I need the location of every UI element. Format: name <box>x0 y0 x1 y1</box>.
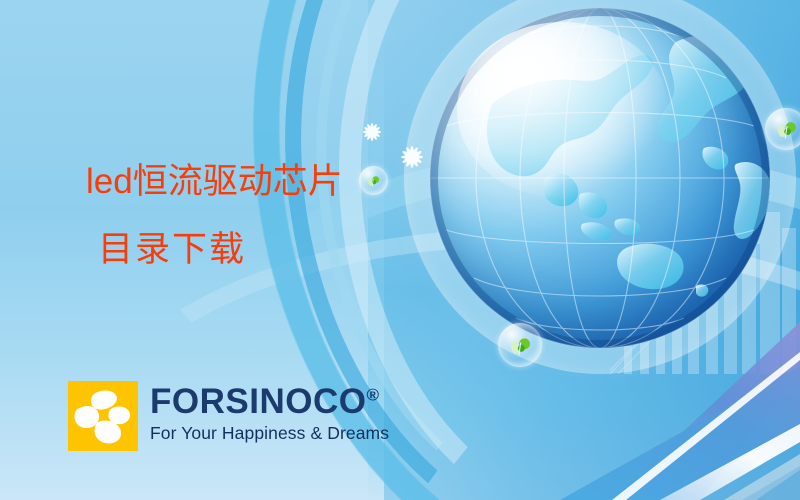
globe-sphere <box>430 8 770 348</box>
logo-wordmark: FORSINOCO® <box>150 384 389 419</box>
headline-line-2: 目录下载 <box>98 233 343 268</box>
promo-banner: led恒流驱动芯片 目录下载 FORSINOCO® For Your Happi… <box>0 0 800 500</box>
logo-text-block: FORSINOCO® For Your Happiness & Dreams <box>150 381 389 443</box>
bubble-sprout-center <box>498 323 542 367</box>
green-sprout-icon <box>364 172 383 189</box>
green-sprout-icon <box>506 333 534 359</box>
headline: led恒流驱动芯片 目录下载 <box>86 164 343 268</box>
flower-asterisk-1-icon <box>360 120 384 144</box>
logo-wordmark-text: FORSINOCO <box>150 382 366 421</box>
headline-line-1-latin: led <box>86 162 133 201</box>
logo-tagline: For Your Happiness & Dreams <box>150 425 389 443</box>
registered-trademark-icon: ® <box>366 385 379 404</box>
green-sprout-icon <box>773 117 800 141</box>
earth-globe <box>430 8 770 348</box>
company-logo[interactable]: FORSINOCO® For Your Happiness & Dreams <box>68 381 389 451</box>
bubble-sprout-right <box>765 108 800 150</box>
forsinoco-pinwheel-mark-icon <box>68 381 138 451</box>
headline-line-1-cjk: 恒流驱动芯片 <box>133 162 343 202</box>
headline-line-1: led恒流驱动芯片 <box>86 164 343 200</box>
flower-asterisk-2-icon <box>397 142 427 172</box>
bubble-sprout-left <box>359 166 388 195</box>
globe-continents-and-grid <box>430 8 770 348</box>
